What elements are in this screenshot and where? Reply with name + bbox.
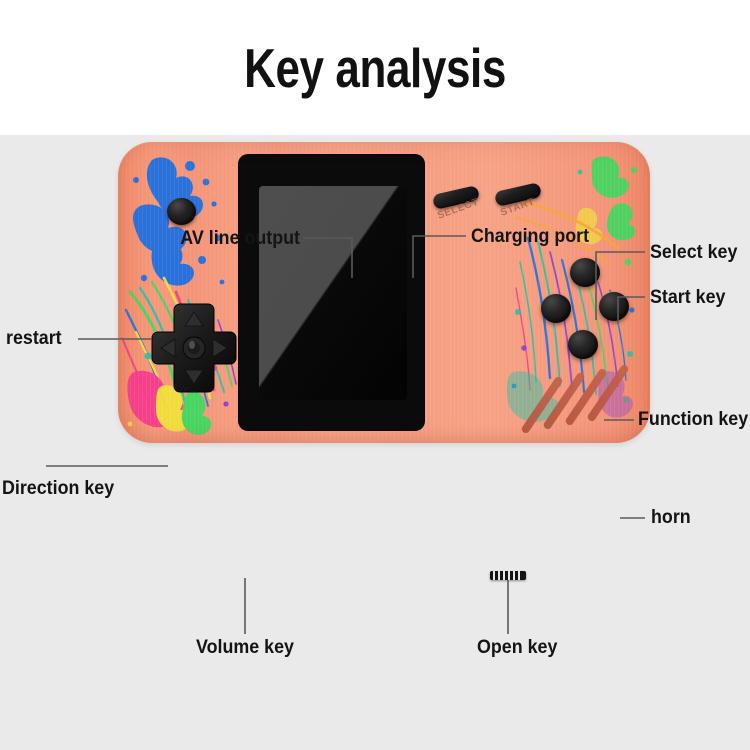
function-button-top[interactable] xyxy=(570,258,600,287)
function-button-bottom[interactable] xyxy=(568,330,598,359)
callout-label-volume-key: Volume key xyxy=(196,637,294,659)
callout-label-open-key: Open key xyxy=(477,637,557,659)
screen-bezel xyxy=(239,155,424,430)
header-band: Key analysis xyxy=(0,0,750,135)
callout-label-av-line-output: AV line output xyxy=(18,228,300,250)
callout-label-restart: restart xyxy=(6,328,62,350)
callout-label-select-key: Select key xyxy=(650,242,737,264)
direction-pad[interactable] xyxy=(151,302,237,394)
product-key-analysis-page: Key analysis xyxy=(0,0,750,750)
game-console-body: SELECT START xyxy=(118,142,650,443)
callout-label-function-key: Function key xyxy=(638,409,748,431)
open-key-switch[interactable] xyxy=(490,571,526,580)
callout-label-horn: horn xyxy=(651,507,691,529)
callout-label-direction-key: Direction key xyxy=(2,478,114,500)
restart-button[interactable] xyxy=(167,198,196,225)
function-button-left[interactable] xyxy=(541,294,571,323)
lcd-screen xyxy=(259,186,407,400)
function-button-right[interactable] xyxy=(599,292,629,321)
callout-label-charging-port: Charging port xyxy=(471,226,589,248)
callout-label-start-key: Start key xyxy=(650,287,725,309)
speaker-grille xyxy=(532,360,640,438)
page-title: Key analysis xyxy=(75,40,675,98)
